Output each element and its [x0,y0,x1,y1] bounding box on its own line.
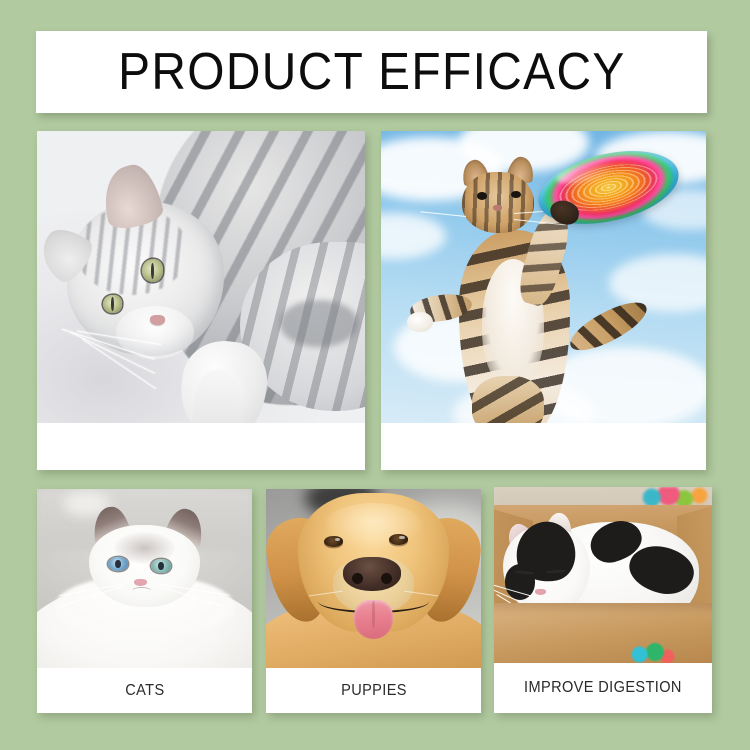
cat-eye-right [103,295,122,314]
dog-nostril-right [381,573,393,585]
photo-card-digestion[interactable]: IMPROVE DIGESTION [494,487,712,713]
caption-bar-puppies: PUPPIES [266,668,481,713]
caption-label-digestion: IMPROVE DIGESTION [524,679,682,697]
photo-golden-retriever [266,489,481,668]
dog-tongue-crease [372,601,374,629]
cat-mouth [132,587,151,594]
ragdoll-cat-illustration [37,489,252,668]
dog-nose [343,557,401,591]
cat-eye-right [151,559,171,573]
dog-nostril-left [352,573,364,585]
photo-card-cat-closeup[interactable] [37,131,365,470]
cat-eye-left [477,192,487,200]
cat-pupil-left [115,560,120,568]
caption-label-cats: CATS [125,682,164,700]
cat-pupil-right [158,562,163,570]
cat-whisker [420,211,465,217]
title-bar: PRODUCT EFFICACY [36,31,707,113]
cat-fur-shadow [280,300,359,347]
cloud [381,213,446,260]
golden-retriever-illustration [266,489,481,668]
box-cat-illustration [494,487,712,663]
dog-eye-highlight [335,538,340,541]
cat-eye-left [142,259,163,281]
dog-eye-right [389,534,408,546]
photo-card-puppies[interactable]: PUPPIES [266,489,481,713]
caption-label-puppies: PUPPIES [341,682,407,700]
caption-bar-cat-frisbee [381,423,706,470]
cat-pupil-right [111,297,114,310]
cat-head [462,172,534,233]
photo-cat-frisbee [381,131,706,423]
cat-pupil-left [151,263,155,279]
frisbee-cat-illustration [381,131,706,423]
cat-nose [134,579,147,586]
cat-hind-leg [472,376,544,423]
cat-nose [535,589,546,595]
caption-bar-cat-closeup [37,423,365,470]
dog-eye-highlight [399,536,404,539]
sticker-cluster-bottom [629,642,677,663]
cardboard-box-front [494,603,712,663]
cloud [609,254,707,312]
photo-ragdoll-cat [37,489,252,668]
caption-bar-cats: CATS [37,668,252,713]
page-title: PRODUCT EFFICACY [118,46,626,98]
photo-card-cat-frisbee[interactable] [381,131,706,470]
photo-cat-in-box [494,487,712,663]
poster-canvas: PRODUCT EFFICACY [0,0,750,750]
cat-nose [493,205,501,210]
caption-bar-digestion: IMPROVE DIGESTION [494,663,712,713]
photo-cat-closeup [37,131,365,423]
photo-card-cats[interactable]: CATS [37,489,252,713]
tabby-cat-illustration [37,131,365,423]
dog-tongue [354,600,393,639]
